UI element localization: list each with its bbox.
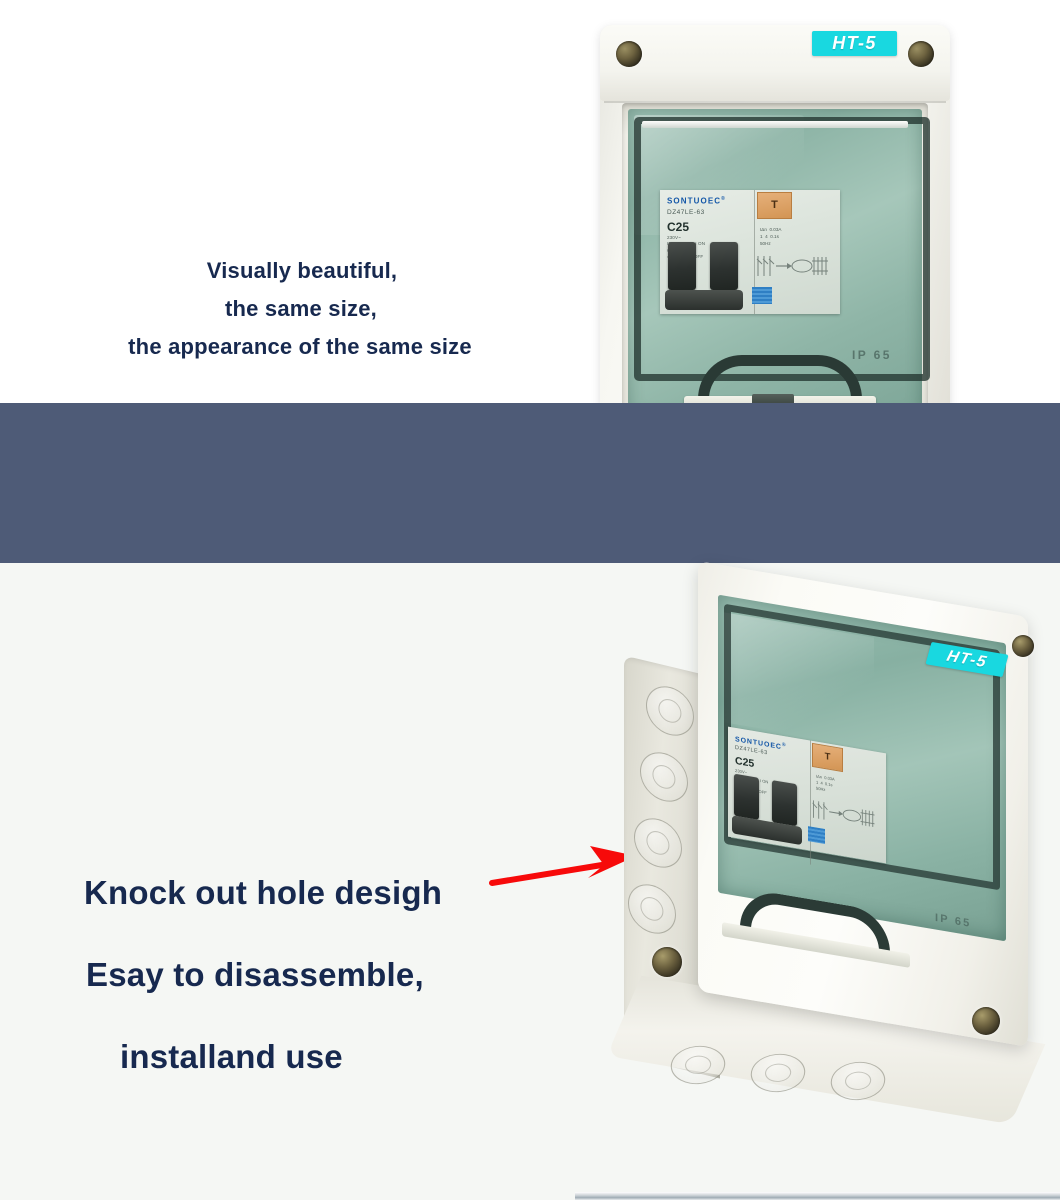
model-badge-front-text: HT-5 xyxy=(812,31,897,56)
top-caption-line-1: Visually beautiful, xyxy=(60,252,540,290)
ip-rating-front: IP 65 xyxy=(852,348,892,362)
breaker-toggle-right-angled[interactable] xyxy=(772,780,797,826)
mounting-hole-angled-top-right xyxy=(1012,635,1034,657)
door-handle[interactable] xyxy=(698,355,862,399)
top-caption-block: Visually beautiful, the same size, the a… xyxy=(60,252,540,366)
divider-band xyxy=(0,403,1060,563)
breaker-toggle-base xyxy=(665,290,743,310)
mounting-hole-angled-bottom-left xyxy=(652,947,682,977)
breaker-toggle-left-angled[interactable] xyxy=(734,774,759,820)
top-caption-line-3: the appearance of the same size xyxy=(60,328,540,366)
circuit-breaker-module: SONTUOEC® DZ47LE-63 C25 230V~ IEC61009-1… xyxy=(660,190,840,314)
indicator-window xyxy=(752,287,772,304)
test-button[interactable]: T xyxy=(757,192,792,219)
product-feature-sheet: Visually beautiful, the same size, the a… xyxy=(0,0,1060,1200)
indicator-window-angled xyxy=(808,826,825,844)
top-caption-line-2: the same size, xyxy=(60,290,540,328)
registered-mark-angled: ® xyxy=(782,742,787,749)
bottom-caption-line-2: Esay to disassemble, xyxy=(78,934,548,1016)
breaker-rating-label: C25 xyxy=(667,220,689,234)
breaker-spec-print-angled: IΔn 0.03A 1 4 0.1s 50Hz xyxy=(816,774,835,795)
registered-mark: ® xyxy=(721,196,726,202)
din-rail-top xyxy=(642,121,908,128)
test-button-label-angled: T xyxy=(813,744,842,771)
breaker-model-label: DZ47LE-63 xyxy=(667,209,705,216)
next-section-edge xyxy=(575,1192,1060,1200)
mounting-hole-angled-bottom-right xyxy=(972,1007,1000,1035)
breaker-brand-label: SONTUOEC® xyxy=(667,196,726,206)
enclosure-top-cap xyxy=(600,25,950,101)
mounting-hole-top-right xyxy=(908,41,934,67)
breaker-toggle-right[interactable] xyxy=(710,242,738,290)
breaker-brand-text: SONTUOEC xyxy=(667,197,721,206)
test-button-angled[interactable]: T xyxy=(812,743,843,772)
test-button-label: T xyxy=(758,193,791,218)
breaker-spec-print: IΔn 0.03A 1 4 0.1s 50Hz xyxy=(760,226,781,247)
mounting-hole-top-left xyxy=(616,41,642,67)
breaker-toggle-left[interactable] xyxy=(668,242,696,290)
bottom-caption-line-3: installand use xyxy=(78,1016,548,1098)
wiring-diagram-icon xyxy=(754,250,832,282)
model-badge-front: HT-5 xyxy=(812,31,897,56)
